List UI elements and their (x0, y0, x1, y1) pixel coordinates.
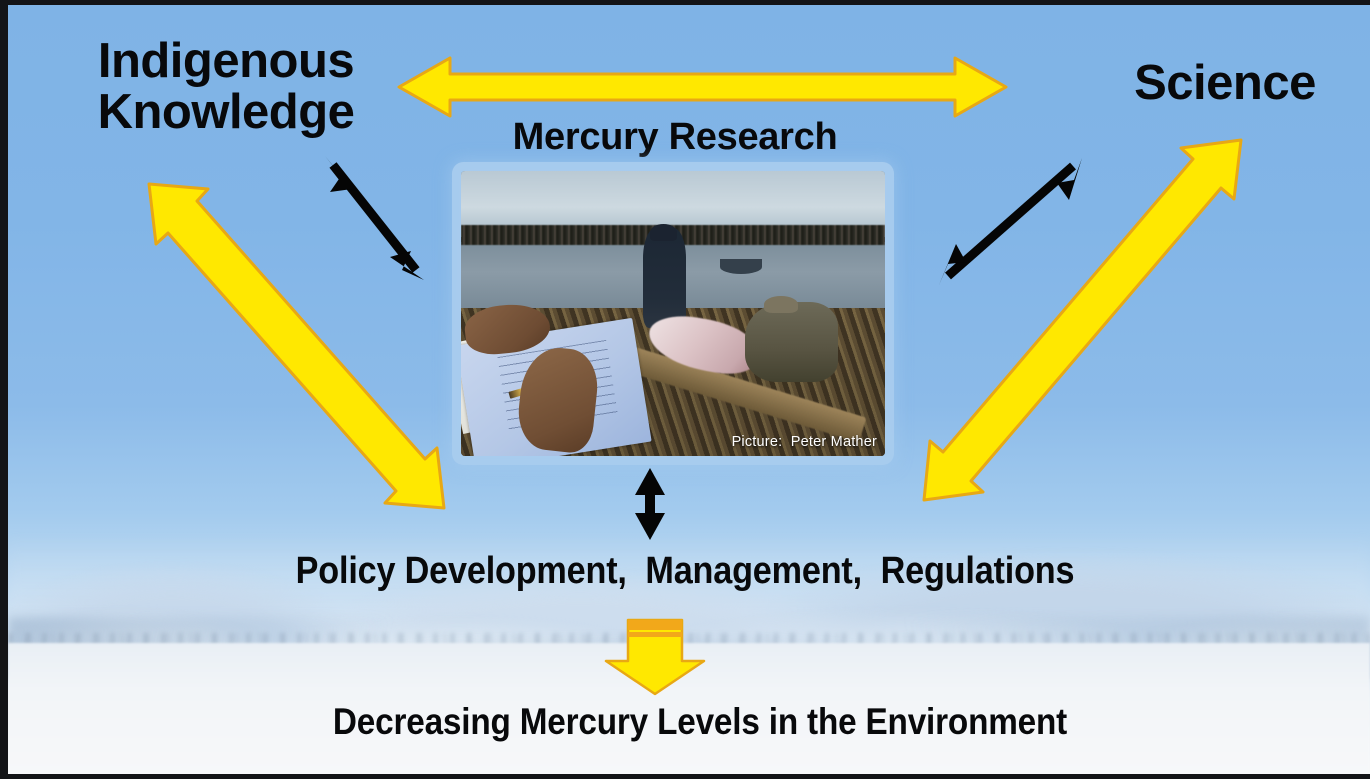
photo-crouching-researcher (745, 302, 838, 382)
mercury-research-photo: Picture: Peter Mather (461, 171, 885, 456)
photo-boat (720, 259, 762, 273)
node-label-mercury-research: Mercury Research (440, 118, 910, 158)
photo-standing-person (643, 228, 685, 328)
photo-crouching-researcher-hat (764, 296, 798, 313)
node-label-science: Science (1100, 58, 1350, 109)
slide-canvas: Indigenous Knowledge Science Mercury Res… (0, 0, 1370, 779)
photo-credit-text: Picture: Peter Mather (732, 434, 877, 450)
node-label-decreasing-mercury-levels: Decreasing Mercury Levels in the Environ… (277, 703, 1123, 741)
photo-standing-person-hat (650, 224, 677, 241)
node-label-indigenous-knowledge: Indigenous Knowledge (58, 36, 394, 138)
node-label-policy-development: Policy Development, Management, Regulati… (258, 552, 1113, 592)
